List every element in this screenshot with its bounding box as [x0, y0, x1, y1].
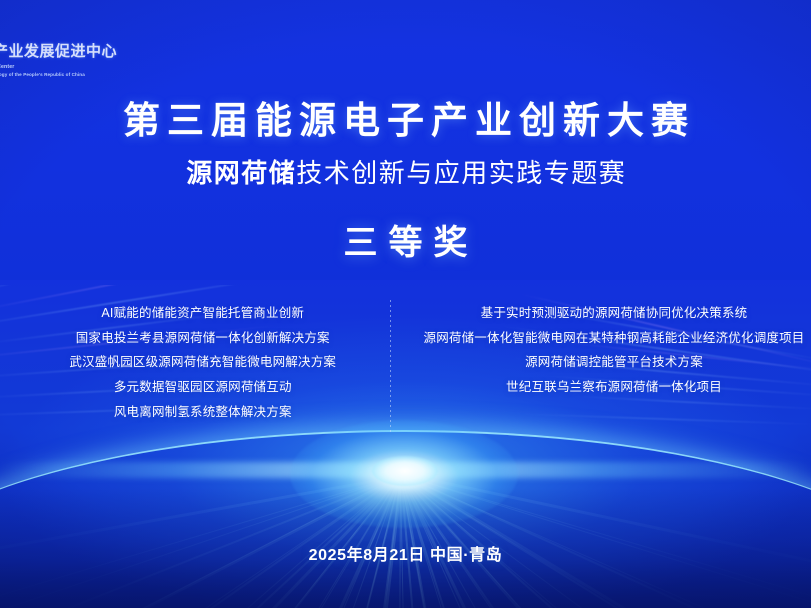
award-entry-left-4: 多元数据智驱园区源网荷储互动 — [114, 380, 292, 396]
event-date-location: 2025年8月21日 中国·青岛 — [0, 541, 811, 565]
award-entry-right-4: 世纪互联乌兰察布源网荷储一体化项目 — [506, 380, 722, 396]
award-entry-right-3: 源网荷储调控能管平台技术方案 — [525, 355, 703, 371]
page-subtitle-emphasis: 源网荷储 — [186, 158, 296, 188]
award-list-right: 基于实时预测驱动的源网荷储协同优化决策系统源网荷储一体化智能微电网在某特种钢高耗… — [406, 306, 811, 420]
organizer-logo: 化部产业发展促进中心 al Promotion Center rmation T… — [0, 40, 117, 77]
organizer-logo-name-en-line1: al Promotion Center — [0, 64, 117, 70]
award-entry-right-1: 基于实时预测驱动的源网荷储协同优化决策系统 — [481, 306, 748, 322]
page-subtitle: 源网荷储技术创新与应用实践专题赛 — [0, 157, 811, 191]
award-entry-left-3: 武汉盛帆园区级源网荷储充智能微电网解决方案 — [69, 355, 336, 371]
award-list-left: AI赋能的储能资产智能托管商业创新国家电投兰考县源网荷储一体化创新解决方案武汉盛… — [0, 306, 406, 420]
award-winner-lists: AI赋能的储能资产智能托管商业创新国家电投兰考县源网荷储一体化创新解决方案武汉盛… — [0, 306, 811, 420]
award-entry-left-2: 国家电投兰考县源网荷储一体化创新解决方案 — [76, 331, 330, 347]
award-title: 三等奖 — [0, 215, 811, 264]
organizer-logo-name-en-line2: rmation Technology of the People's Repub… — [0, 72, 117, 77]
page-title: 第三届能源电子产业创新大赛 — [0, 99, 811, 143]
organizer-logo-name-cn: 化部产业发展促进中心 — [0, 40, 117, 61]
award-slide: 化部产业发展促进中心 al Promotion Center rmation T… — [0, 0, 811, 608]
award-entry-left-1: AI赋能的储能资产智能托管商业创新 — [101, 306, 304, 322]
page-subtitle-rest: 技术创新与应用实践专题赛 — [296, 158, 626, 188]
award-entry-left-5: 风电离网制氢系统整体解决方案 — [114, 405, 292, 421]
award-entry-right-2: 源网荷储一体化智能微电网在某特种钢高耗能企业经济优化调度项目 — [424, 331, 805, 347]
slide-content: 化部产业发展促进中心 al Promotion Center rmation T… — [0, 0, 811, 608]
